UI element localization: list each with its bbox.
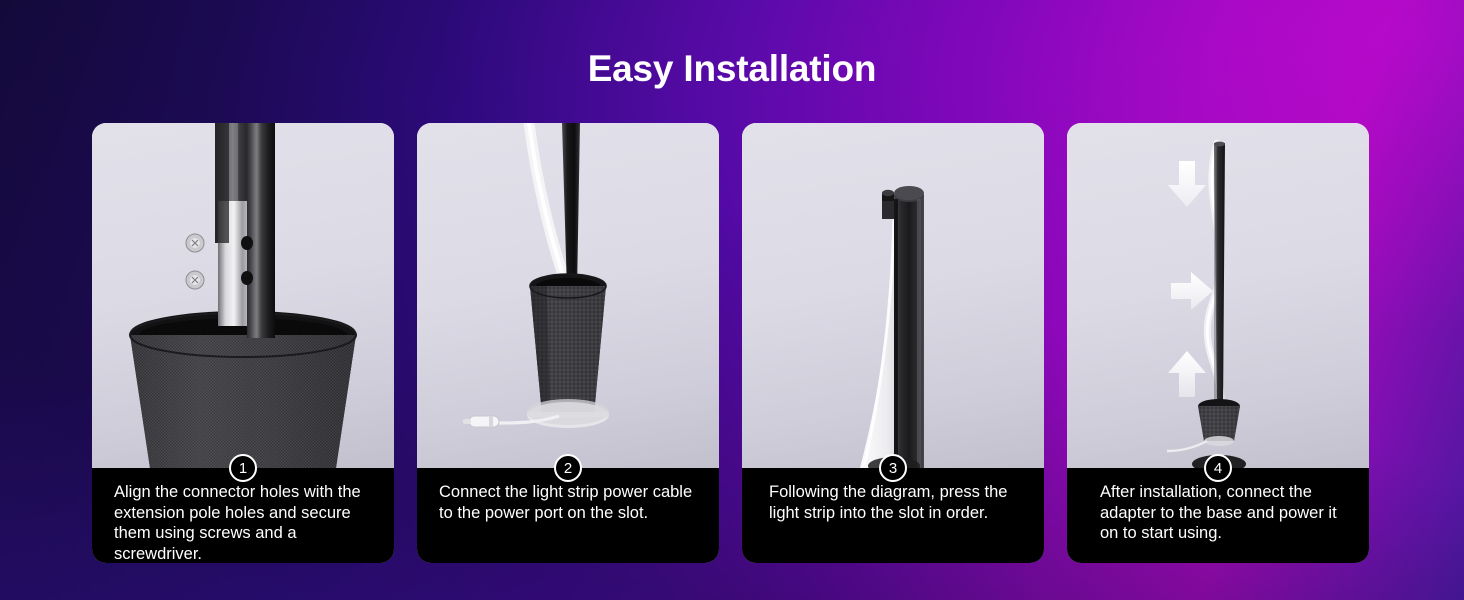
step-image-4 [1067,123,1369,468]
step-card-4[interactable]: 4 After installation, connect the adapte… [1067,123,1369,563]
step-badge-2: 2 [554,454,582,482]
step-caption-1: Align the connector holes with the exten… [92,468,394,563]
arrow-up-icon [1168,351,1206,397]
step-image-2 [417,123,719,468]
step-card-1[interactable]: 1 Align the connector holes with the ext… [92,123,394,563]
arrow-down-icon [1168,161,1206,207]
step-badge-3: 3 [879,454,907,482]
step-image-1 [92,123,394,468]
installation-banner: Easy Installation [0,0,1464,600]
step-badge-1: 1 [229,454,257,482]
screw-icon-a [186,234,204,252]
step-image-3 [742,123,1044,468]
step-caption-2: Connect the light strip power cable to t… [417,468,719,563]
step-badge-4: 4 [1204,454,1232,482]
screw-icon-b [186,271,204,289]
page-title: Easy Installation [0,48,1464,90]
step-card-3[interactable]: 3 Following the diagram, press the light… [742,123,1044,563]
step-caption-3: Following the diagram, press the light s… [742,468,1044,563]
step-caption-4: After installation, connect the adapter … [1067,468,1369,563]
arrow-right-icon [1171,272,1213,310]
step-card-2[interactable]: 2 Connect the light strip power cable to… [417,123,719,563]
steps-container: 1 Align the connector holes with the ext… [92,123,1372,563]
